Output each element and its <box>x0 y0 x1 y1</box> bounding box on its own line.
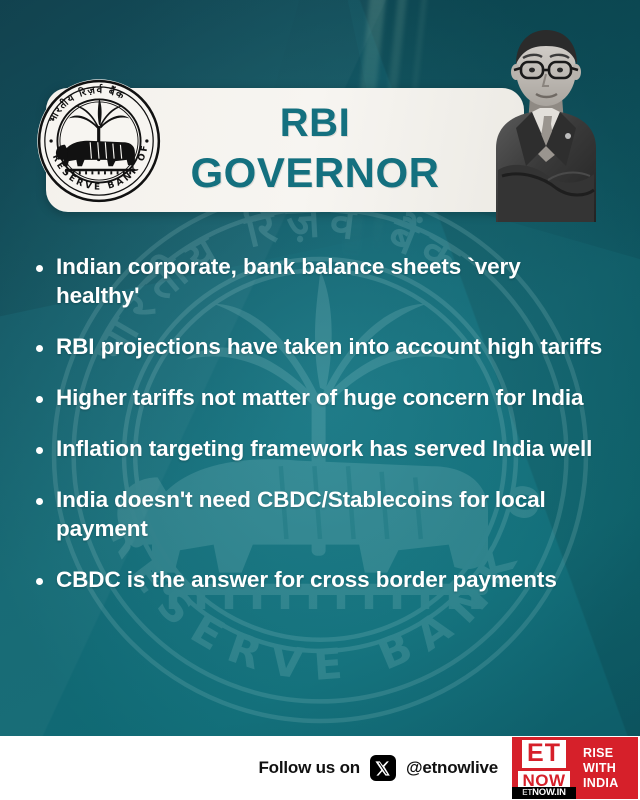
footer-content: Follow us on @etnowlive ET NOW ETNOW.IN … <box>258 736 640 800</box>
tagline-line1: RISE <box>583 746 613 761</box>
page-title: RBI GOVERNOR <box>150 98 480 198</box>
x-twitter-icon[interactable] <box>370 755 396 781</box>
etnow-et-text: ET <box>522 740 566 768</box>
list-item: CBDC is the answer for cross border paym… <box>30 565 610 594</box>
rbi-emblem-icon: भारतीय रिज़र्व बैंक RESERVE BANK OF INDI… <box>36 78 162 204</box>
tagline-line3: INDIA <box>583 776 619 791</box>
social-handle[interactable]: @etnowlive <box>406 758 498 778</box>
bullet-dot-icon <box>36 578 43 585</box>
list-item-text: Inflation targeting framework has served… <box>56 434 592 463</box>
footer-bar: Follow us on @etnowlive ET NOW ETNOW.IN … <box>0 736 640 800</box>
tagline-line2: WITH <box>583 761 616 776</box>
list-item: Higher tariffs not matter of huge concer… <box>30 383 610 412</box>
etnow-logo: ET NOW ETNOW.IN RISE WITH INDIA <box>512 737 638 799</box>
follow-us-label: Follow us on <box>258 758 359 778</box>
bullet-dot-icon <box>36 396 43 403</box>
list-item: RBI projections have taken into account … <box>30 332 610 361</box>
etnow-url-main: NOW.IN <box>532 787 566 798</box>
infographic-card: भारतीय रिज़र्व बैंक RESERVE BANK OF INDI… <box>0 0 640 800</box>
bullet-dot-icon <box>36 265 43 272</box>
etnow-logo-mark: ET NOW ETNOW.IN <box>512 737 576 799</box>
list-item: India doesn't need CBDC/Stablecoins for … <box>30 485 610 543</box>
governor-portrait-image <box>452 20 638 222</box>
bullet-dot-icon <box>36 345 43 352</box>
page-title-line1: RBI <box>150 98 480 148</box>
list-item-text: RBI projections have taken into account … <box>56 332 602 361</box>
list-item: Indian corporate, bank balance sheets `v… <box>30 252 610 310</box>
etnow-url: ETNOW.IN <box>512 787 576 799</box>
list-item-text: Higher tariffs not matter of huge concer… <box>56 383 583 412</box>
etnow-tagline: RISE WITH INDIA <box>576 737 638 799</box>
etnow-url-prefix: ET <box>522 788 532 797</box>
list-item-text: CBDC is the answer for cross border paym… <box>56 565 557 594</box>
list-item: Inflation targeting framework has served… <box>30 434 610 463</box>
bullet-list: Indian corporate, bank balance sheets `v… <box>30 252 610 594</box>
bullet-dot-icon <box>36 447 43 454</box>
list-item-text: Indian corporate, bank balance sheets `v… <box>56 252 604 310</box>
list-item-text: India doesn't need CBDC/Stablecoins for … <box>56 485 604 543</box>
bullet-dot-icon <box>36 498 43 505</box>
page-title-line2: GOVERNOR <box>150 148 480 198</box>
